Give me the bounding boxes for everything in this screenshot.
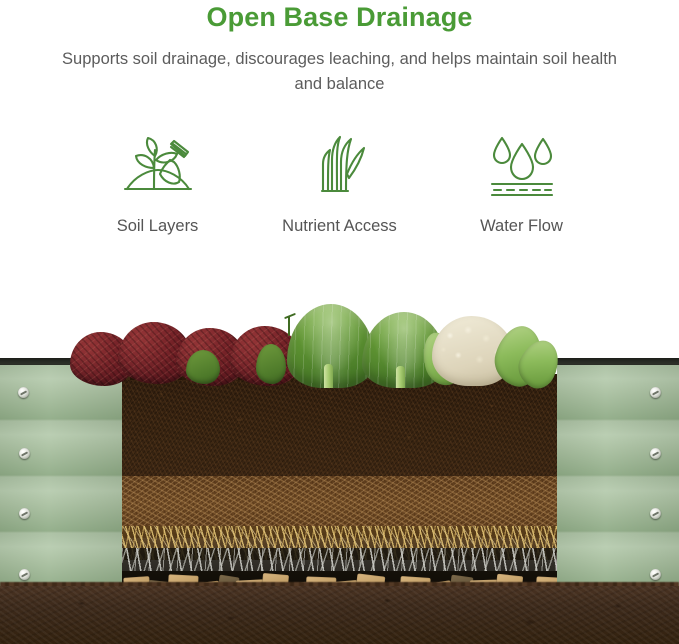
raised-garden-bed-photo	[0, 292, 679, 644]
feature-item-nutrient-access: Nutrient Access	[251, 132, 429, 238]
feature-label-nutrient-access: Nutrient Access	[251, 214, 429, 238]
bed-panel-right	[557, 365, 679, 589]
ground-soil	[0, 586, 679, 644]
panel-screw	[650, 448, 661, 459]
page-subtitle: Supports soil drainage, discourages leac…	[60, 47, 620, 97]
lettuce-green-leaf	[256, 344, 286, 384]
page-title: Open Base Drainage	[0, 0, 679, 34]
water-droplets-icon	[433, 132, 611, 198]
feature-label-soil-layers: Soil Layers	[69, 214, 247, 238]
plant-shovel-icon	[69, 132, 247, 198]
soil-cross-section	[122, 376, 557, 593]
seedling-sprig	[284, 313, 296, 319]
header: Open Base Drainage Supports soil drainag…	[0, 0, 679, 97]
panel-screw	[650, 508, 661, 519]
panel-screw	[650, 569, 661, 580]
feature-item-soil-layers: Soil Layers	[69, 132, 247, 238]
feature-item-water-flow: Water Flow	[433, 132, 611, 238]
cabbage-stem	[324, 364, 333, 388]
product-feature-panel: Open Base Drainage Supports soil drainag…	[0, 0, 679, 644]
grass-blades-icon	[251, 132, 429, 198]
lettuce-green-leaf	[186, 350, 220, 384]
feature-list: Soil Layers Nutrient Access	[0, 132, 679, 238]
panel-screw	[19, 569, 30, 580]
cabbage-stem	[396, 366, 405, 388]
bed-panel-left	[0, 365, 122, 589]
feature-label-water-flow: Water Flow	[433, 214, 611, 238]
seedling-sprig	[288, 316, 290, 336]
panel-screw	[19, 508, 30, 519]
plant-group	[0, 292, 679, 392]
panel-screw	[19, 448, 30, 459]
